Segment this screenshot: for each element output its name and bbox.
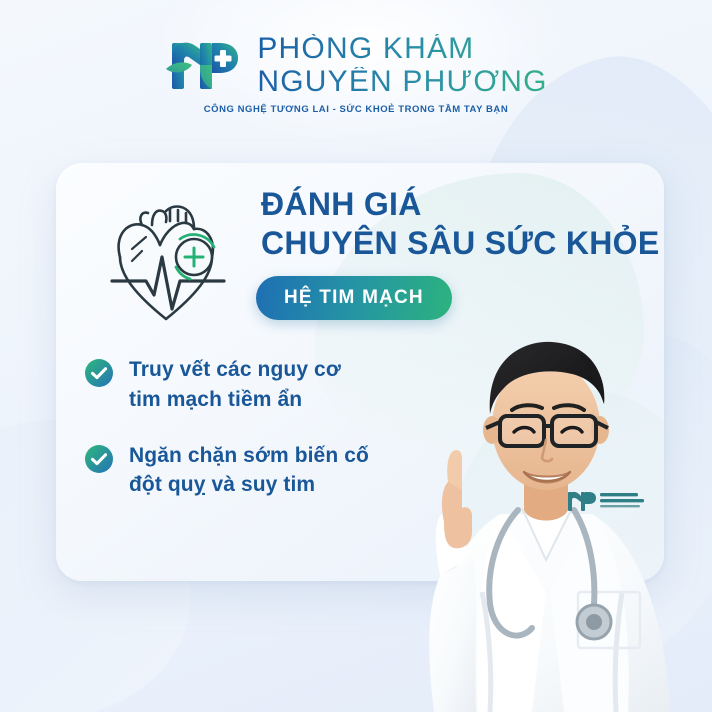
list-item: Truy vết các nguy cơ tim mạch tiềm ẩn	[84, 355, 369, 415]
headline-line1: ĐÁNH GIÁ	[261, 185, 660, 224]
brand-tagline: CÔNG NGHỆ TƯƠNG LAI - SỨC KHOẺ TRONG TẦM…	[204, 104, 508, 115]
check-circle-icon	[84, 358, 114, 388]
anatomical-heart-ecg-plus-icon	[108, 195, 228, 325]
np-medical-cross-leaf-logo-icon	[164, 35, 244, 97]
brand-name-line2: NGUYÊN PHƯƠNG	[257, 67, 547, 97]
page-title: ĐÁNH GIÁ CHUYÊN SÂU SỨC KHỎE	[261, 185, 660, 263]
list-item: Ngăn chặn sớm biến cố đột quỵ và suy tim	[84, 441, 369, 501]
benefit-list: Truy vết các nguy cơ tim mạch tiềm ẩn Ng…	[84, 355, 369, 526]
list-item-label: Ngăn chặn sớm biến cố đột quỵ và suy tim	[129, 441, 369, 501]
headline-line2: CHUYÊN SÂU SỨC KHỎE	[261, 224, 660, 263]
list-item-label: Truy vết các nguy cơ tim mạch tiềm ẩn	[129, 355, 341, 415]
logo-wordmark: PHÒNG KHÁM NGUYÊN PHƯƠNG	[257, 34, 547, 97]
brand-header: PHÒNG KHÁM NGUYÊN PHƯƠNG CÔNG NGHỆ TƯƠNG…	[0, 34, 712, 115]
check-circle-icon	[84, 444, 114, 474]
logo-row: PHÒNG KHÁM NGUYÊN PHƯƠNG	[164, 34, 547, 97]
doctor-photo	[382, 292, 712, 712]
brand-name-line1: PHÒNG KHÁM	[257, 34, 547, 64]
